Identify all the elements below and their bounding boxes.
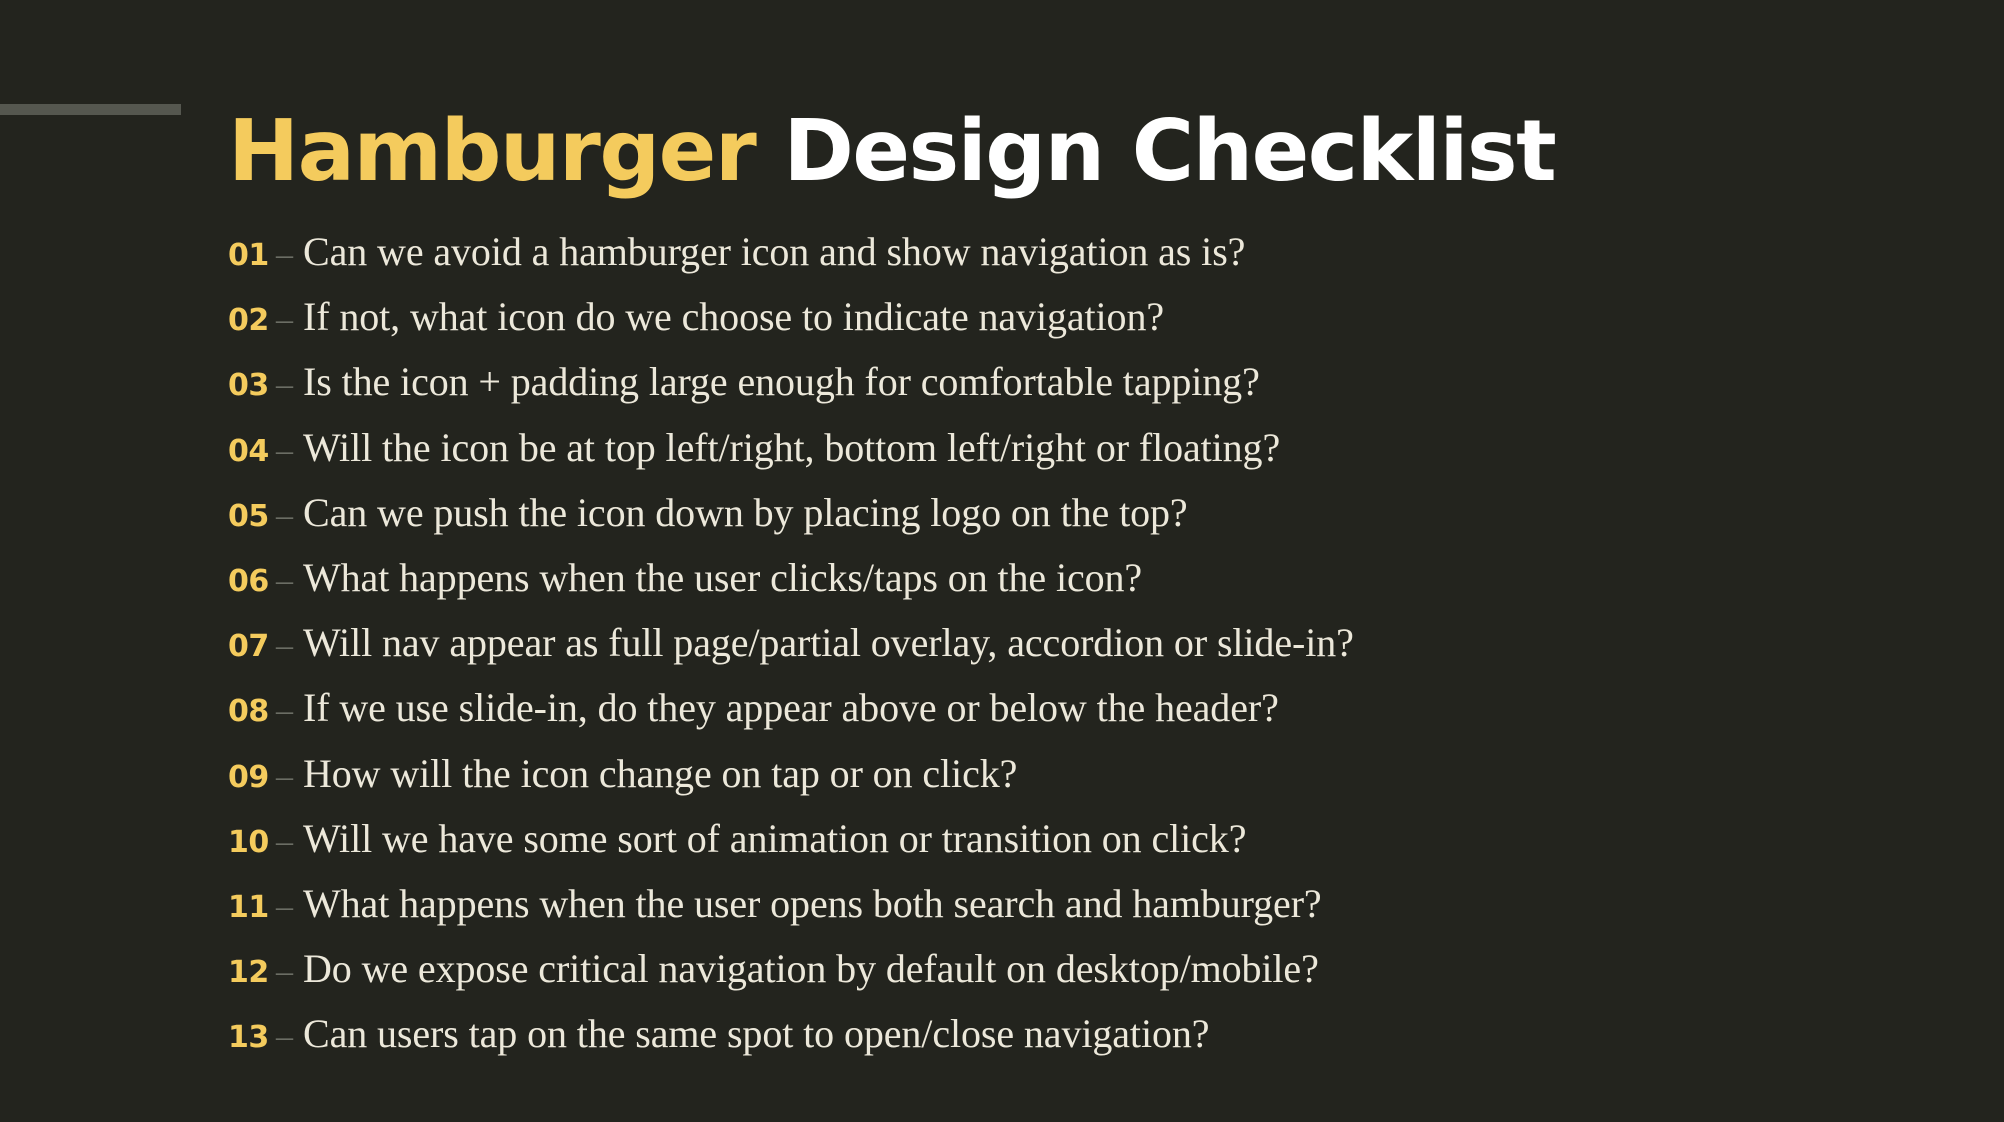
checklist-item-dash: – [276,955,293,989]
checklist-item-dash: – [276,890,293,924]
checklist-item-number: 01 [228,238,272,273]
checklist-item-number: 06 [228,564,272,599]
checklist-item-dash: – [276,434,293,468]
checklist-item-text: Can we avoid a hamburger icon and show n… [303,228,1245,275]
checklist-item-dash: – [276,238,293,272]
checklist-item: 11–What happens when the user opens both… [228,880,1928,945]
checklist-item: 09–How will the icon change on tap or on… [228,750,1928,815]
page-title-plain: Design Checklist [783,102,1555,201]
checklist-item-text: Will the icon be at top left/right, bott… [303,424,1280,471]
checklist-item-number: 05 [228,499,272,534]
checklist-item: 01–Can we avoid a hamburger icon and sho… [228,228,1928,293]
checklist-item: 02–If not, what icon do we choose to ind… [228,293,1928,358]
checklist-item: 08–If we use slide-in, do they appear ab… [228,684,1928,749]
checklist-item: 10–Will we have some sort of animation o… [228,815,1928,880]
checklist-item: 05–Can we push the icon down by placing … [228,489,1928,554]
checklist-item-number: 11 [228,890,272,925]
checklist-item-text: If we use slide-in, do they appear above… [303,684,1279,731]
checklist-item-text: What happens when the user clicks/taps o… [303,554,1142,601]
checklist-item-dash: – [276,629,293,663]
checklist-item-text: Will nav appear as full page/partial ove… [303,619,1354,666]
checklist-item-text: What happens when the user opens both se… [303,880,1322,927]
checklist-item-dash: – [276,825,293,859]
checklist-item: 04–Will the icon be at top left/right, b… [228,424,1928,489]
checklist-item-text: Will we have some sort of animation or t… [303,815,1246,862]
checklist-item-number: 12 [228,955,272,990]
checklist-item-dash: – [276,1020,293,1054]
page-title-accent: Hamburger [228,102,755,201]
checklist-item-text: Can we push the icon down by placing log… [303,489,1188,536]
checklist-item-text: How will the icon change on tap or on cl… [303,750,1017,797]
checklist-item-dash: – [276,694,293,728]
checklist: 01–Can we avoid a hamburger icon and sho… [228,228,1928,1075]
slide-canvas: Hamburger Design Checklist 01–Can we avo… [0,0,2004,1122]
checklist-item: 03–Is the icon + padding large enough fo… [228,358,1928,423]
checklist-item-number: 03 [228,368,272,403]
checklist-item-number: 02 [228,303,272,338]
checklist-item-dash: – [276,760,293,794]
checklist-item: 06–What happens when the user clicks/tap… [228,554,1928,619]
checklist-item-dash: – [276,303,293,337]
checklist-item-text: Is the icon + padding large enough for c… [303,358,1260,405]
checklist-item: 13–Can users tap on the same spot to ope… [228,1010,1928,1075]
checklist-item-dash: – [276,499,293,533]
checklist-item-number: 13 [228,1020,272,1055]
checklist-item: 12–Do we expose critical navigation by d… [228,945,1928,1010]
checklist-item: 07–Will nav appear as full page/partial … [228,619,1928,684]
checklist-item-dash: – [276,564,293,598]
header-rule [0,104,181,115]
checklist-item-text: Do we expose critical navigation by defa… [303,945,1319,992]
checklist-item-number: 09 [228,760,272,795]
checklist-item-dash: – [276,368,293,402]
checklist-item-number: 10 [228,825,272,860]
slide-header: Hamburger Design Checklist [0,30,2004,160]
checklist-item-number: 04 [228,434,272,469]
checklist-item-number: 08 [228,694,272,729]
page-title: Hamburger Design Checklist [228,87,1555,217]
checklist-item-number: 07 [228,629,272,664]
checklist-item-text: Can users tap on the same spot to open/c… [303,1010,1209,1057]
checklist-item-text: If not, what icon do we choose to indica… [303,293,1164,340]
